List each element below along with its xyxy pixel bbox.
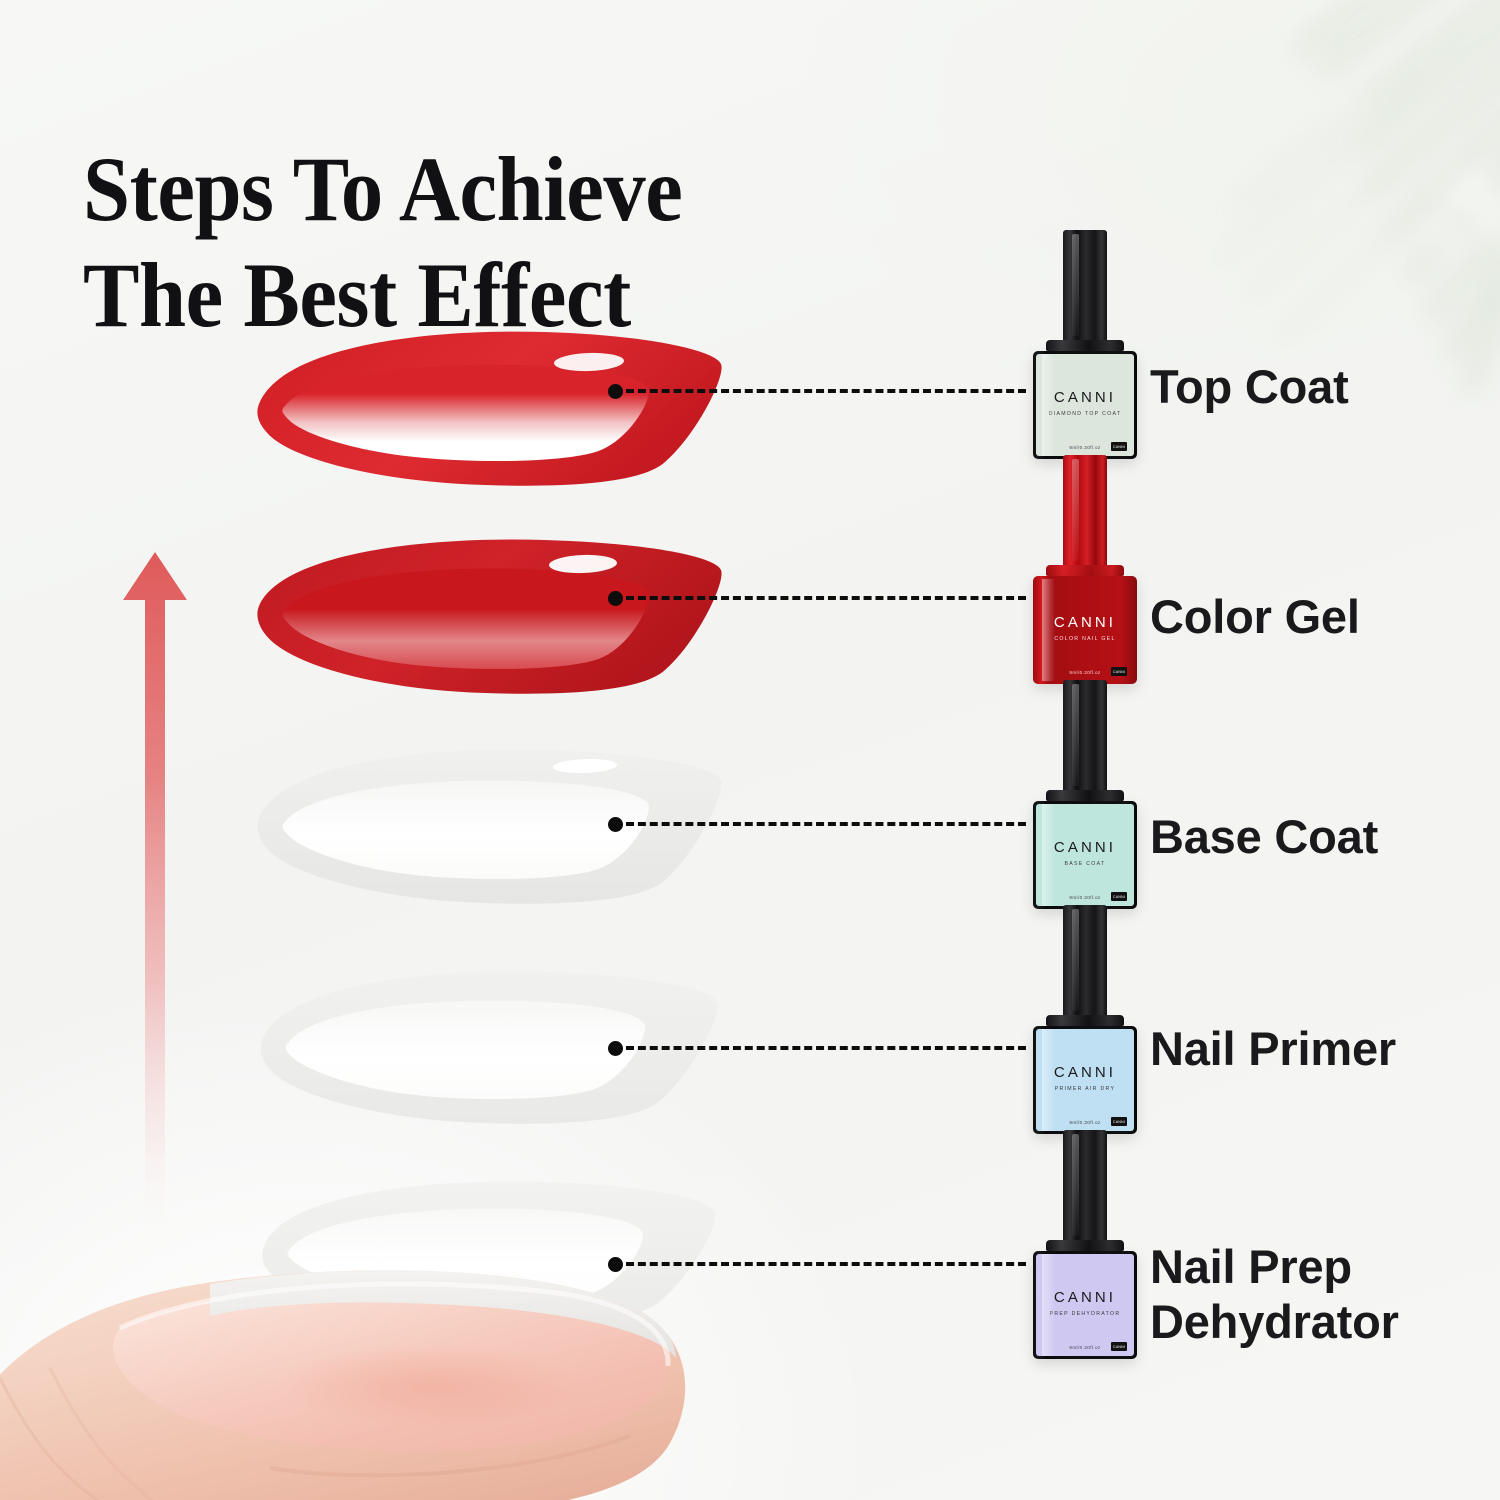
product-subtitle: DIAMOND TOP COAT (1049, 411, 1122, 417)
connector-dot (608, 591, 623, 606)
bottle-nail-primer[interactable]: CANNI PRIMER AIR DRY 9ml/0.30fl.oz CANNI (1029, 905, 1141, 1134)
step-label-top-coat: Top Coat (1150, 360, 1349, 415)
step-label-base-coat: Base Coat (1150, 810, 1378, 865)
brand-name: CANNI (1054, 615, 1116, 630)
bottle-base-coat[interactable]: CANNI BASE COAT 9ml/0.30fl.oz CANNI (1029, 680, 1141, 909)
brand-name: CANNI (1054, 390, 1116, 405)
bottle-cap (1063, 680, 1107, 790)
step-label-nail-prep-dehydrator: Nail Prep Dehydrator (1150, 1240, 1399, 1349)
step-label-color-gel: Color Gel (1150, 590, 1360, 645)
bottle-body: CANNI DIAMOND TOP COAT 9ml/0.30fl.oz CAN… (1033, 351, 1137, 459)
bottle-label: CANNI PRIMER AIR DRY 9ml/0.30fl.oz CANNI (1036, 1029, 1134, 1131)
page-title: Steps To Achieve The Best Effect (83, 136, 911, 349)
connector-base-coat (608, 814, 1026, 834)
connector-dot (608, 384, 623, 399)
bottle-body: CANNI PREP DEHYDRATOR 9ml/0.30fl.oz CANN… (1033, 1251, 1137, 1359)
bottle-body: CANNI PRIMER AIR DRY 9ml/0.30fl.oz CANNI (1033, 1026, 1137, 1134)
connector-dot (608, 817, 623, 832)
bottle-shoulder (1046, 1015, 1124, 1026)
bottle-body: CANNI BASE COAT 9ml/0.30fl.oz CANNI (1033, 801, 1137, 909)
bottle-cap (1063, 455, 1107, 565)
connector-dash (626, 596, 1026, 600)
bottle-top-coat[interactable]: CANNI DIAMOND TOP COAT 9ml/0.30fl.oz CAN… (1029, 230, 1141, 459)
bottle-label: CANNI DIAMOND TOP COAT 9ml/0.30fl.oz CAN… (1036, 354, 1134, 456)
connector-dot (608, 1041, 623, 1056)
bottle-shoulder (1046, 1240, 1124, 1251)
bottle-shoulder (1046, 340, 1124, 351)
product-subtitle: PREP DEHYDRATOR (1050, 1311, 1121, 1317)
upward-progress-arrow (113, 548, 198, 1248)
bottle-cap (1063, 1130, 1107, 1240)
bottle-nail-prep-dehydrator[interactable]: CANNI PREP DEHYDRATOR 9ml/0.30fl.oz CANN… (1029, 1130, 1141, 1359)
color-gel-nail-layer (245, 532, 745, 712)
infographic-canvas: Steps To Achieve The Best Effect (0, 0, 1500, 1500)
brand-name: CANNI (1054, 1290, 1116, 1305)
connector-dash (626, 822, 1026, 826)
product-subtitle: COLOR NAIL GEL (1054, 636, 1115, 642)
connector-dash (626, 1046, 1026, 1050)
brand-name: CANNI (1054, 840, 1116, 855)
connector-top-coat (608, 381, 1026, 401)
product-subtitle: BASE COAT (1064, 861, 1105, 867)
bottle-label: CANNI PREP DEHYDRATOR 9ml/0.30fl.oz CANN… (1036, 1254, 1134, 1356)
brand-badge: CANNI (1111, 667, 1127, 676)
bottle-shoulder (1046, 565, 1124, 576)
bottle-cap (1063, 230, 1107, 340)
bottle-label: CANNI BASE COAT 9ml/0.30fl.oz CANNI (1036, 804, 1134, 906)
bottle-color-gel[interactable]: CANNI COLOR NAIL GEL 9ml/0.30fl.oz CANNI (1029, 455, 1141, 684)
top-coat-nail-layer (245, 322, 745, 502)
step-label-nail-primer: Nail Primer (1150, 1022, 1396, 1077)
bottle-body: CANNI COLOR NAIL GEL 9ml/0.30fl.oz CANNI (1033, 576, 1137, 684)
brand-badge: CANNI (1111, 892, 1127, 901)
connector-nail-primer (608, 1038, 1026, 1058)
brand-badge: CANNI (1111, 442, 1127, 451)
page-title-line-1: Steps To Achieve (83, 136, 911, 243)
brand-name: CANNI (1054, 1065, 1116, 1080)
bottle-shoulder (1046, 790, 1124, 801)
brand-badge: CANNI (1111, 1117, 1127, 1126)
bottle-cap (1063, 905, 1107, 1015)
connector-color-gel (608, 588, 1026, 608)
product-subtitle: PRIMER AIR DRY (1055, 1086, 1115, 1092)
connector-dash (626, 389, 1026, 393)
brand-badge: CANNI (1111, 1342, 1127, 1351)
bottle-label: CANNI COLOR NAIL GEL 9ml/0.30fl.oz CANNI (1036, 579, 1134, 681)
fingertip-photo (0, 1258, 730, 1500)
